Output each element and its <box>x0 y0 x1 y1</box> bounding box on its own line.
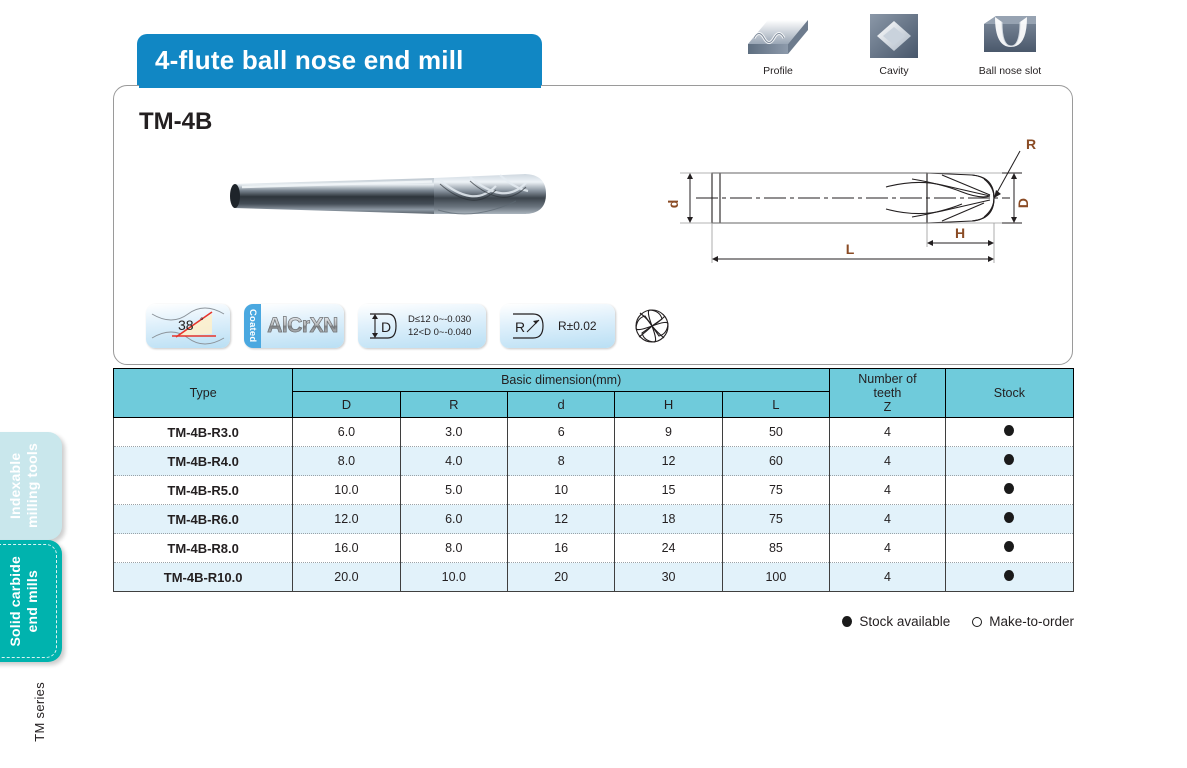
cell-L: 75 <box>722 476 829 505</box>
table-row: TM-4B-R4.08.04.0812604 <box>114 447 1074 476</box>
cell-stock <box>945 476 1073 505</box>
column-header-stock: Stock <box>945 369 1073 418</box>
cell-d: 20 <box>507 563 614 592</box>
specification-table-container: Type Basic dimension(mm) Number of teeth… <box>113 368 1074 592</box>
coating-badge: Coated AlCrXN <box>244 304 344 348</box>
coating-name: AlCrXN <box>261 314 344 338</box>
svg-text:°: ° <box>200 316 204 326</box>
profile-icon <box>742 8 814 64</box>
cell-H: 15 <box>615 476 722 505</box>
cell-teeth: 4 <box>830 534 946 563</box>
flute-count-badge <box>629 304 675 348</box>
cell-stock <box>945 563 1073 592</box>
page-title-tab: 4-flute ball nose end mill <box>137 34 542 86</box>
diameter-tolerance-badge: D D≤12 0~-0.030 12<D 0~-0.040 <box>358 304 486 348</box>
tolerance-values: D≤12 0~-0.030 12<D 0~-0.040 <box>408 313 471 339</box>
specification-table: Type Basic dimension(mm) Number of teeth… <box>113 368 1074 592</box>
stock-legend: Stock available Make-to-order <box>113 614 1074 629</box>
cell-type: TM-4B-R8.0 <box>114 534 293 563</box>
column-header-d: d <box>507 391 614 417</box>
operation-ball-nose-slot: Ball nose slot <box>974 8 1046 88</box>
column-header-type: Type <box>114 369 293 418</box>
cell-type: TM-4B-R10.0 <box>114 563 293 592</box>
cell-d: 16 <box>507 534 614 563</box>
coating-prefix: Coated <box>244 304 261 348</box>
dimension-drawing: d D R H <box>654 131 1054 276</box>
cell-R: 6.0 <box>400 505 507 534</box>
operation-icon-group: Profile Cavity <box>742 8 1072 88</box>
product-card: TM-4B <box>113 85 1073 365</box>
spec-badge-group: 38 ° Coated AlCrXN D D≤12 0~-0.030 12<D … <box>146 304 675 348</box>
cell-R: 8.0 <box>400 534 507 563</box>
series-label: TM series <box>26 672 52 752</box>
operation-label: Profile <box>763 65 793 77</box>
ball-nose-slot-icon <box>978 8 1042 64</box>
cell-type: TM-4B-R3.0 <box>114 418 293 447</box>
cell-D: 16.0 <box>293 534 400 563</box>
open-circle-icon <box>972 617 982 627</box>
cell-type: TM-4B-R5.0 <box>114 476 293 505</box>
cell-teeth: 4 <box>830 563 946 592</box>
operation-cavity: Cavity <box>858 8 930 88</box>
filled-circle-icon <box>1004 454 1014 465</box>
table-row: TM-4B-R6.012.06.01218754 <box>114 505 1074 534</box>
legend-stock-available: Stock available <box>842 614 950 629</box>
cell-H: 18 <box>615 505 722 534</box>
column-header-basic-dimension: Basic dimension(mm) <box>293 369 830 392</box>
filled-circle-icon <box>842 616 852 627</box>
cell-D: 12.0 <box>293 505 400 534</box>
tool-photo <box>226 164 546 228</box>
cell-H: 30 <box>615 563 722 592</box>
svg-text:L: L <box>846 241 855 257</box>
cell-R: 5.0 <box>400 476 507 505</box>
cell-L: 85 <box>722 534 829 563</box>
sidebar-item-label: Indexablemilling tools <box>7 443 41 528</box>
cell-teeth: 4 <box>830 418 946 447</box>
cell-stock <box>945 447 1073 476</box>
helix-angle-badge: 38 ° <box>146 304 230 348</box>
radius-tolerance-badge: R R±0.02 <box>500 304 615 348</box>
title-tab-joint <box>139 83 541 88</box>
svg-text:R: R <box>1026 136 1036 152</box>
cell-L: 100 <box>722 563 829 592</box>
specification-table-body: TM-4B-R3.06.03.069504TM-4B-R4.08.04.0812… <box>114 418 1074 592</box>
cell-teeth: 4 <box>830 447 946 476</box>
filled-circle-icon <box>1004 570 1014 581</box>
operation-profile: Profile <box>742 8 814 88</box>
operation-label: Cavity <box>879 65 908 77</box>
cell-teeth: 4 <box>830 476 946 505</box>
cell-H: 24 <box>615 534 722 563</box>
cell-d: 12 <box>507 505 614 534</box>
radius-tolerance-value: R±0.02 <box>558 319 597 333</box>
cell-D: 20.0 <box>293 563 400 592</box>
legend-make-to-order: Make-to-order <box>972 614 1074 629</box>
cell-d: 6 <box>507 418 614 447</box>
cell-H: 9 <box>615 418 722 447</box>
table-row: TM-4B-R8.016.08.01624854 <box>114 534 1074 563</box>
cell-L: 75 <box>722 505 829 534</box>
page-title: 4-flute ball nose end mill <box>155 45 464 76</box>
svg-text:D: D <box>1015 198 1031 208</box>
cell-R: 10.0 <box>400 563 507 592</box>
cell-D: 10.0 <box>293 476 400 505</box>
sidebar-item-label: Solid carbideend mills <box>7 556 41 647</box>
svg-text:R: R <box>515 319 525 335</box>
filled-circle-icon <box>1004 483 1014 494</box>
cell-D: 6.0 <box>293 418 400 447</box>
diameter-symbol-icon: D <box>366 310 400 342</box>
cell-d: 8 <box>507 447 614 476</box>
filled-circle-icon <box>1004 425 1014 436</box>
cell-d: 10 <box>507 476 614 505</box>
cell-stock <box>945 534 1073 563</box>
filled-circle-icon <box>1004 541 1014 552</box>
column-header-teeth: Number of teeth Z <box>830 369 946 418</box>
cavity-icon <box>864 8 924 64</box>
sidebar-item-indexable-milling-tools[interactable]: Indexablemilling tools <box>0 432 62 540</box>
svg-text:D: D <box>381 319 391 335</box>
table-row: TM-4B-R5.010.05.01015754 <box>114 476 1074 505</box>
sidebar: Indexablemilling tools Solid carbideend … <box>0 0 100 768</box>
cell-stock <box>945 418 1073 447</box>
cell-stock <box>945 505 1073 534</box>
column-header-D: D <box>293 391 400 417</box>
table-row: TM-4B-R10.020.010.020301004 <box>114 563 1074 592</box>
cell-L: 60 <box>722 447 829 476</box>
svg-text:d: d <box>665 200 681 209</box>
cell-L: 50 <box>722 418 829 447</box>
svg-text:H: H <box>955 225 965 241</box>
sidebar-item-solid-carbide-end-mills[interactable]: Solid carbideend mills <box>0 540 62 662</box>
cell-D: 8.0 <box>293 447 400 476</box>
cell-R: 4.0 <box>400 447 507 476</box>
table-row: TM-4B-R3.06.03.069504 <box>114 418 1074 447</box>
column-header-R: R <box>400 391 507 417</box>
cell-teeth: 4 <box>830 505 946 534</box>
cell-H: 12 <box>615 447 722 476</box>
four-flute-end-view-icon <box>630 305 674 347</box>
filled-circle-icon <box>1004 512 1014 523</box>
column-header-H: H <box>615 391 722 417</box>
helix-angle-value: 38 <box>178 317 194 333</box>
cell-R: 3.0 <box>400 418 507 447</box>
operation-label: Ball nose slot <box>979 65 1041 77</box>
cell-type: TM-4B-R4.0 <box>114 447 293 476</box>
cell-type: TM-4B-R6.0 <box>114 505 293 534</box>
model-name: TM-4B <box>139 108 212 136</box>
radius-symbol-icon: R <box>509 310 549 342</box>
column-header-L: L <box>722 391 829 417</box>
